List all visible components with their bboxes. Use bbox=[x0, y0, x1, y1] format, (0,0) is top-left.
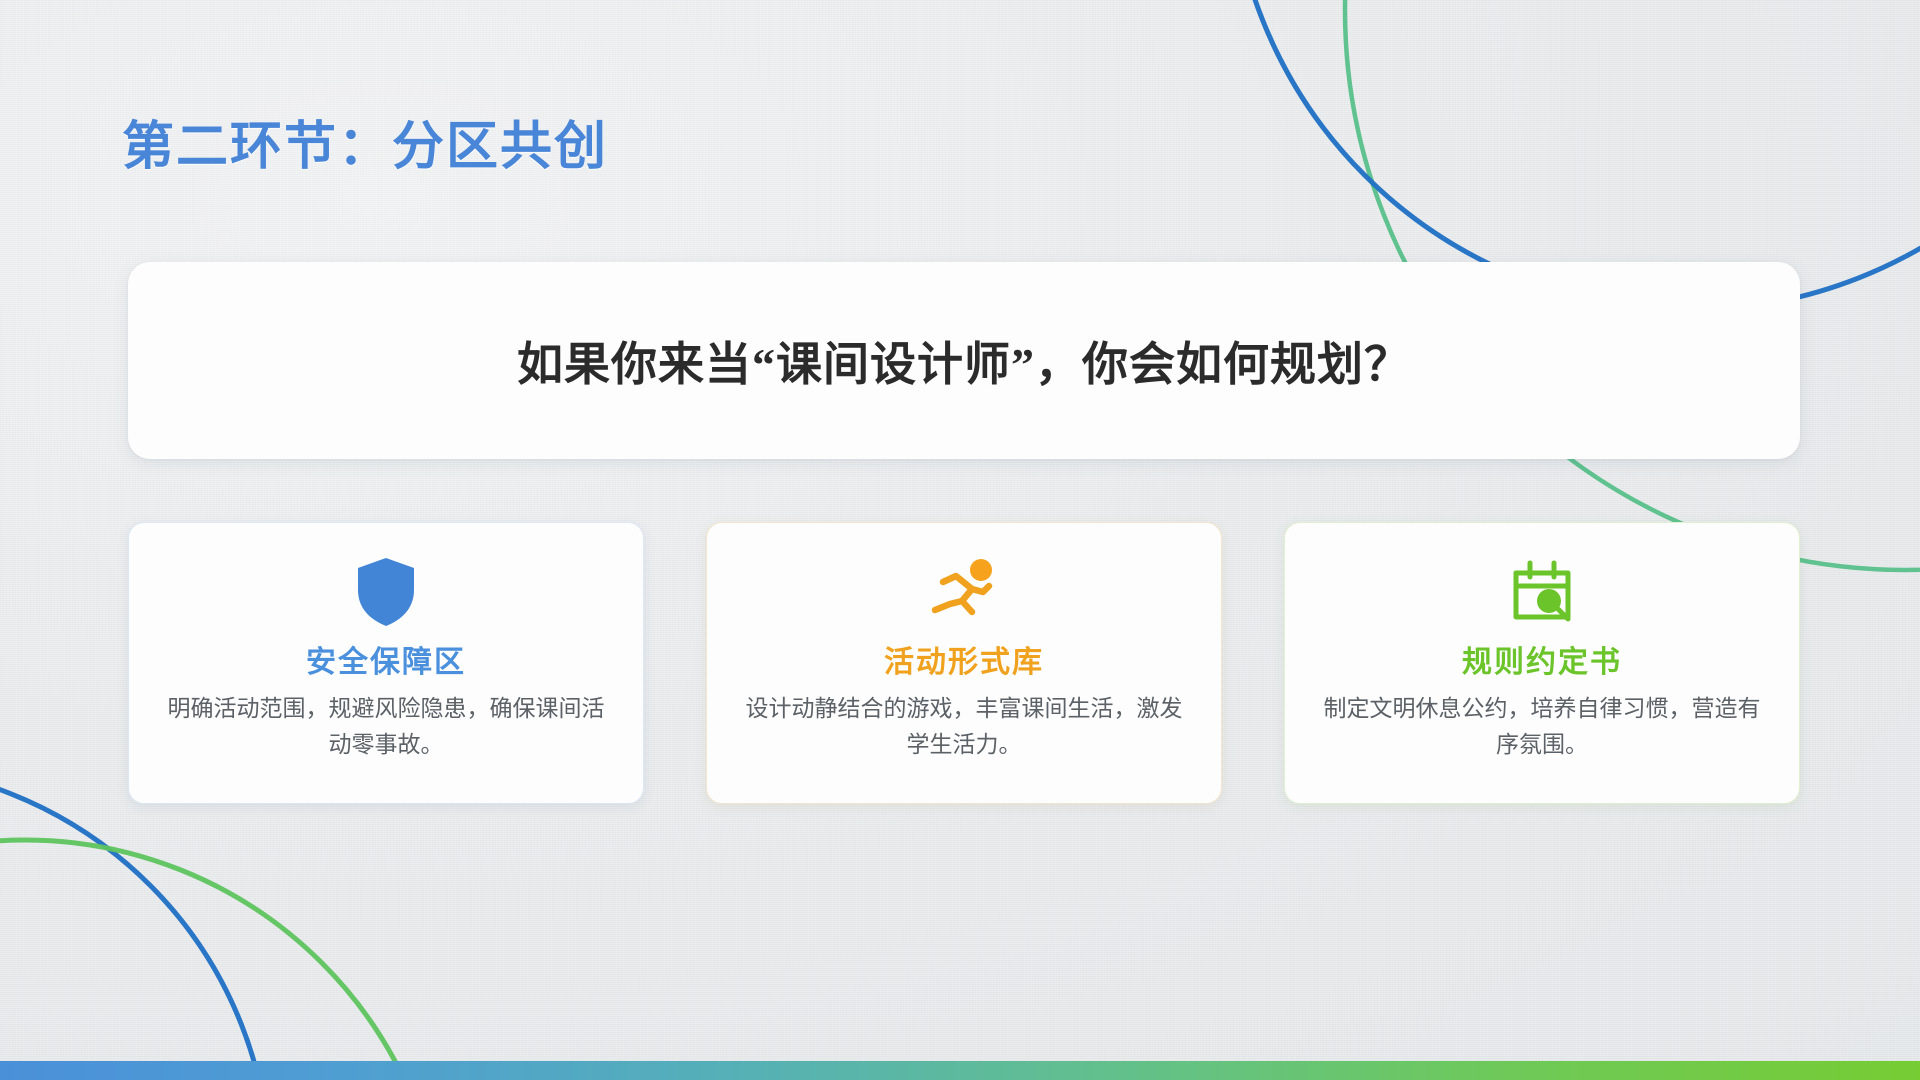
info-card-description: 设计动静结合的游戏，丰富课间生活，激发学生活力。 bbox=[741, 691, 1187, 762]
info-card-title: 活动形式库 bbox=[884, 637, 1044, 681]
question-text: 如果你来当“课间设计师”，你会如何规划？ bbox=[517, 328, 1411, 394]
info-card-group: 安全保障区 明确活动范围，规避风险隐患，确保课间活动零事故。 活动形式库 设计动… bbox=[128, 522, 1800, 804]
arc-blue-bottom-left bbox=[0, 765, 270, 1080]
running-person-icon bbox=[926, 553, 1002, 631]
info-card-title: 规则约定书 bbox=[1462, 637, 1622, 681]
info-card-description: 制定文明休息公约，培养自律习惯，营造有序氛围。 bbox=[1319, 691, 1765, 762]
question-banner: 如果你来当“课间设计师”，你会如何规划？ bbox=[128, 262, 1800, 459]
shield-icon bbox=[354, 553, 418, 631]
info-card-title: 安全保障区 bbox=[306, 637, 466, 681]
info-card-safety[interactable]: 安全保障区 明确活动范围，规避风险隐患，确保课间活动零事故。 bbox=[128, 522, 644, 804]
slide-canvas: 第二环节：分区共创 如果你来当“课间设计师”，你会如何规划？ 安全保障区 明确活… bbox=[0, 0, 1920, 1080]
page-title: 第二环节：分区共创 bbox=[122, 104, 608, 179]
arc-green-bottom-left bbox=[0, 840, 445, 1080]
calendar-search-icon bbox=[1506, 553, 1578, 631]
info-card-activities[interactable]: 活动形式库 设计动静结合的游戏，丰富课间生活，激发学生活力。 bbox=[706, 522, 1222, 804]
info-card-description: 明确活动范围，规避风险隐患，确保课间活动零事故。 bbox=[163, 691, 609, 762]
bottom-gradient-bar bbox=[0, 1061, 1920, 1080]
info-card-rules[interactable]: 规则约定书 制定文明休息公约，培养自律习惯，营造有序氛围。 bbox=[1284, 522, 1800, 804]
